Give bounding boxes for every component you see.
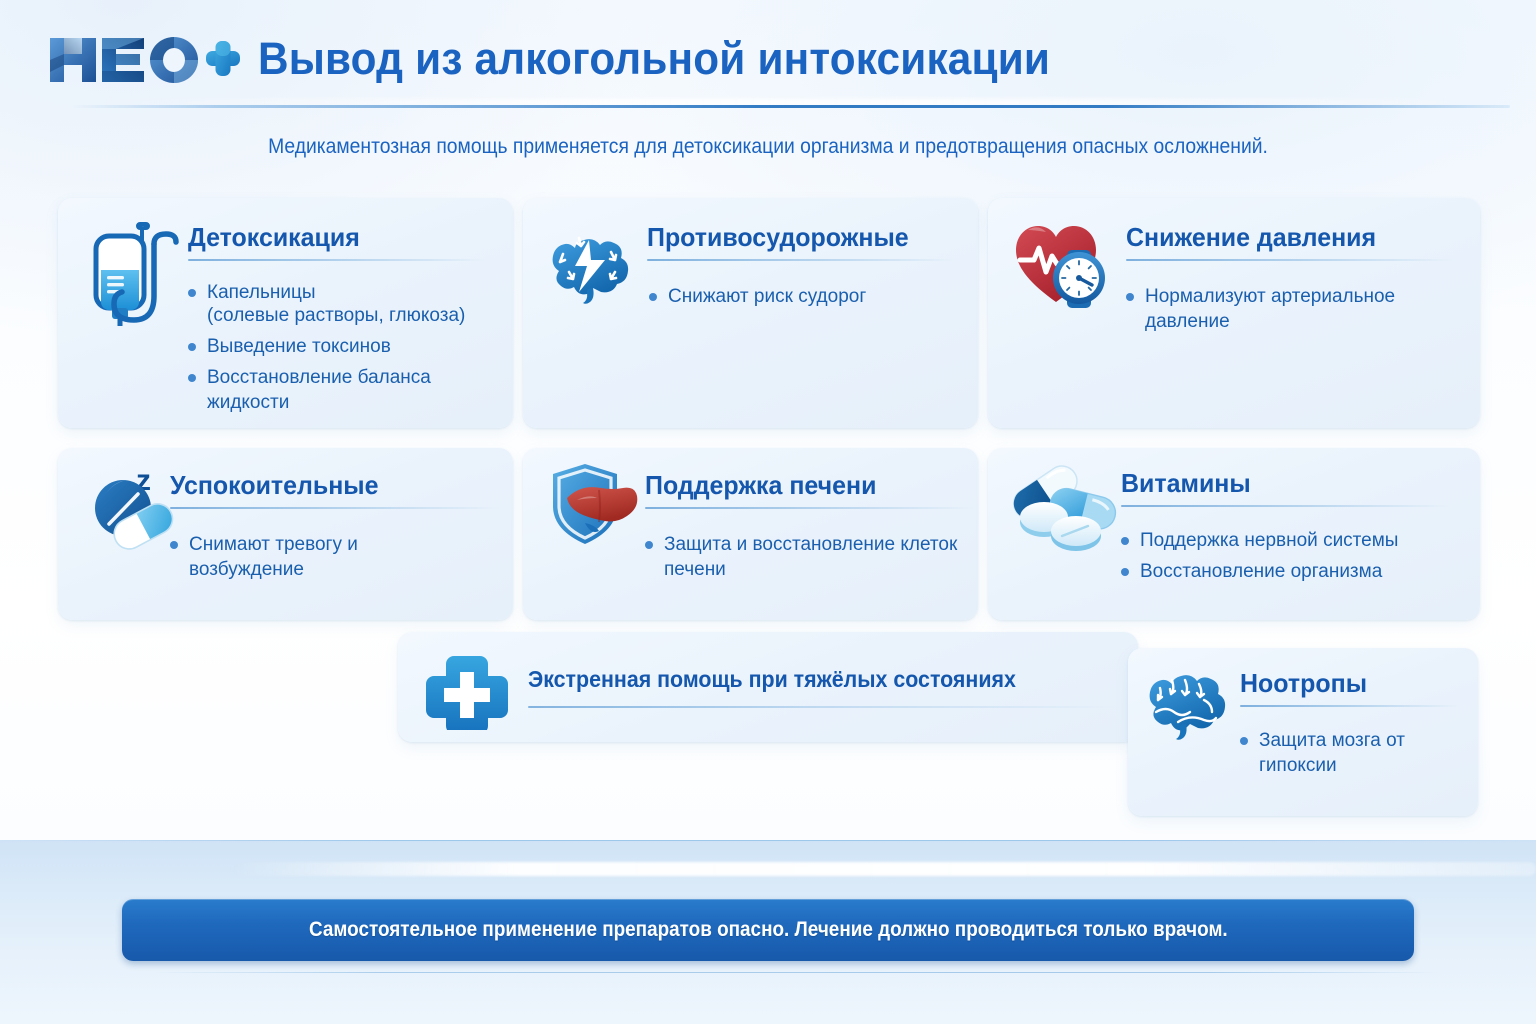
list-item: Защита и восстановление клеток печени xyxy=(641,532,961,582)
page-subtitle: Медикаментозная помощь применяется для д… xyxy=(61,135,1474,159)
card-detoxication[interactable]: Детоксикация Капельницы (солевые раствор… xyxy=(58,198,513,428)
infographic-root: НЕО+ Вывод из алкогольной интоксикации М… xyxy=(0,0,1536,1024)
bullet-text: Защита и восстановление клеток печени xyxy=(664,534,957,580)
liver-shield-icon xyxy=(541,456,649,556)
list-item-sub: (солевые растворы, глюкоза) xyxy=(184,303,502,328)
card-title-rule xyxy=(1121,505,1451,507)
header: НЕО+ Вывод из алкогольной интоксикации xyxy=(0,0,1536,112)
card-bullet-list: Защита и восстановление клеток печени xyxy=(641,532,961,588)
bullet-text: Восстановление организма xyxy=(1140,561,1382,582)
list-item: Восстановление баланса жидкости xyxy=(184,365,502,415)
neo-plus-logo xyxy=(48,32,240,88)
header-divider xyxy=(70,105,1510,108)
list-item: Выведение токсинов xyxy=(184,334,502,359)
card-title-rule xyxy=(188,259,488,261)
warning-banner: Самостоятельное применение препаратов оп… xyxy=(122,899,1414,961)
vitamin-pills-icon xyxy=(996,456,1120,556)
list-item: Капельницы xyxy=(184,280,502,305)
card-bullet-list: Защита мозга от гипоксии xyxy=(1236,728,1466,784)
card-bullet-list: Капельницы (солевые растворы, глюкоза) В… xyxy=(184,280,502,421)
brain-lightning-icon xyxy=(545,220,641,312)
card-anticonvulsants[interactable]: Противосудорожные Снижают риск судорог xyxy=(523,198,978,428)
card-blood-pressure[interactable]: Снижение давления Нормализуют артериальн… xyxy=(988,198,1480,428)
card-title: Витамины xyxy=(1121,470,1438,496)
card-title: Детоксикация xyxy=(188,224,476,250)
bullet-text: Нормализуют артериальное давление xyxy=(1145,286,1395,332)
card-title: Ноотропы xyxy=(1240,670,1451,696)
emergency-help-bar[interactable]: Экстренная помощь при тяжёлых состояниях xyxy=(398,632,1138,742)
list-item: Поддержка нервной системы xyxy=(1117,528,1467,553)
list-item: Восстановление организма xyxy=(1117,559,1467,584)
emergency-rule xyxy=(528,706,1120,708)
card-bullet-list: Поддержка нервной системы Восстановление… xyxy=(1117,528,1467,590)
card-title: Успокоительные xyxy=(170,472,487,498)
card-vitamins[interactable]: Витамины Поддержка нервной системы Восст… xyxy=(988,448,1480,620)
page-title: Вывод из алкогольной интоксикации xyxy=(258,33,1050,85)
list-item: Снимают тревогу и возбуждение xyxy=(166,532,466,582)
bullet-text: Выведение токсинов xyxy=(207,336,391,357)
card-title: Снижение давления xyxy=(1126,224,1443,250)
card-bullet-list: Снимают тревогу и возбуждение xyxy=(166,532,466,588)
card-title: Поддержка печени xyxy=(645,472,962,498)
card-title-rule xyxy=(170,507,500,509)
card-bullet-list: Снижают риск судорог xyxy=(645,284,955,315)
card-title-rule xyxy=(645,507,975,509)
list-item: Снижают риск судорог xyxy=(645,284,955,309)
card-nootropics[interactable]: Ноотропы Защита мозга от гипоксии xyxy=(1128,648,1478,816)
warning-text: Самостоятельное применение препаратов оп… xyxy=(309,918,1228,942)
bullet-text: Снимают тревогу и возбуждение xyxy=(189,534,358,580)
background-bottom-line xyxy=(150,972,1440,973)
card-sedatives[interactable]: z Успокоительные Снимают тревогу и возбу… xyxy=(58,448,513,620)
bullet-text: Поддержка нервной системы xyxy=(1140,530,1398,551)
heart-pressure-gauge-icon xyxy=(1010,216,1118,316)
list-item: Защита мозга от гипоксии xyxy=(1236,728,1466,778)
iv-drip-icon xyxy=(84,218,184,333)
list-item: Нормализуют артериальное давление xyxy=(1122,284,1452,334)
card-liver-support[interactable]: Поддержка печени Защита и восстановление… xyxy=(523,448,978,620)
card-title-rule xyxy=(1126,259,1456,261)
bullet-text: Восстановление баланса жидкости xyxy=(207,367,431,413)
emergency-label: Экстренная помощь при тяжёлых состояниях xyxy=(528,666,1016,693)
bullet-text: Защита мозга от гипоксии xyxy=(1259,730,1405,776)
card-title: Противосудорожные xyxy=(647,224,945,250)
medical-cross-icon xyxy=(426,652,508,730)
card-title-rule xyxy=(647,259,957,261)
card-title-rule xyxy=(1240,705,1460,707)
card-bullet-list: Нормализуют артериальное давление xyxy=(1122,284,1452,340)
background-sheen xyxy=(230,862,1536,876)
bullet-subtext: (солевые растворы, глюкоза) xyxy=(207,305,465,326)
brain-icon xyxy=(1142,658,1238,746)
bullet-text: Снижают риск судорог xyxy=(668,286,866,307)
bullet-text: Капельницы xyxy=(207,282,316,303)
